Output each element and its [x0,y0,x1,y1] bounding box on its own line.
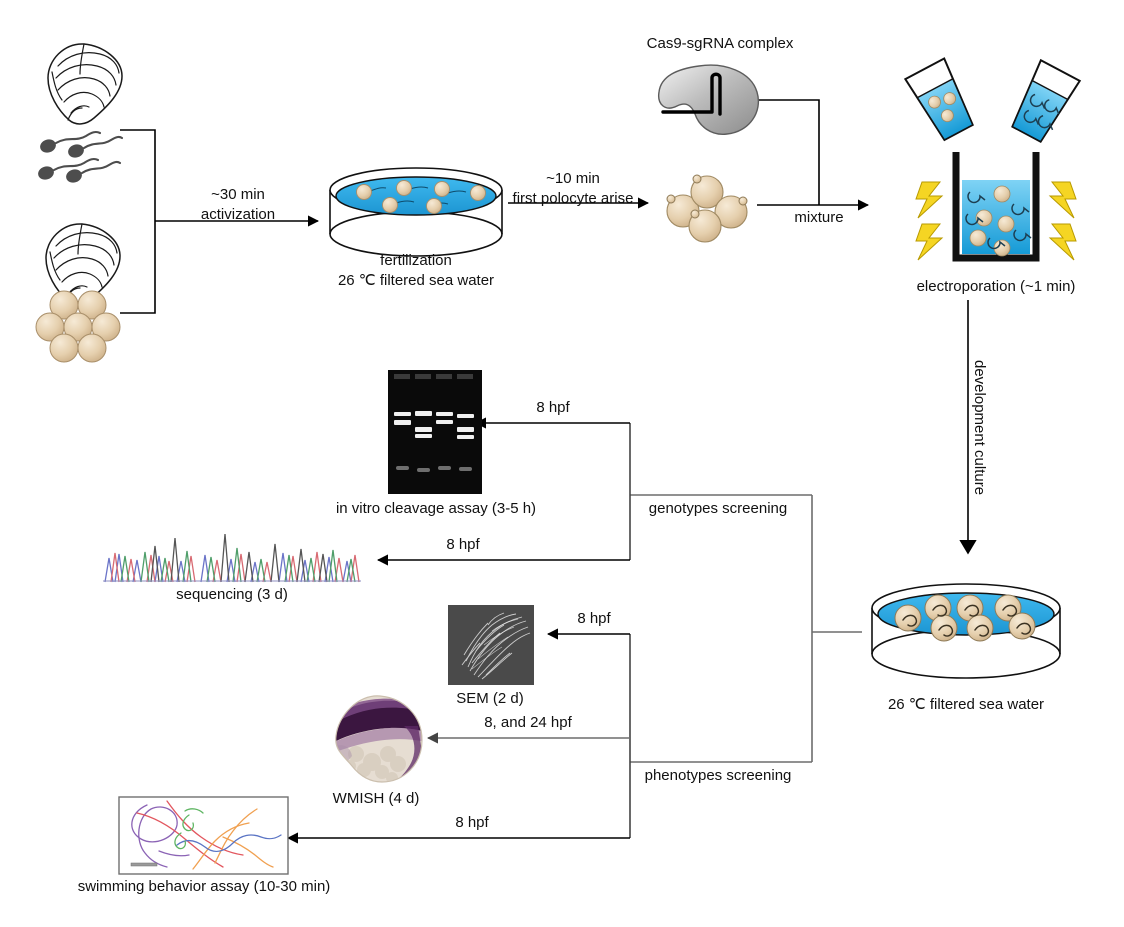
egg-cluster-icon [34,288,122,364]
fertilization-caption-line1: fertilization [380,252,452,270]
fertilization-dish [318,160,514,266]
gel-electrophoresis-image [388,370,482,494]
to-sequencing-label: 8 hpf [446,536,479,554]
wmish-image [330,692,426,788]
phenotypes-screening-label: phenotypes screening [645,767,792,785]
cas9-complex-label: Cas9-sgRNA complex [647,35,794,53]
fertilization-caption-line2: 26 ℃ filtered sea water [338,272,494,290]
activization-label-line2: activization [201,206,275,224]
cas9-protein-icon [655,62,765,138]
polocyte-label-line1: ~10 min [546,170,600,188]
zygote-cluster-icon [657,168,757,244]
to-sem-label: 8 hpf [577,610,610,628]
development-dish-caption: 26 ℃ filtered sea water [888,696,1044,714]
cleavage-assay-caption: in vitro cleavage assay (3-5 h) [336,500,536,518]
electroporation-caption: electroporation (~1 min) [917,278,1076,296]
development-dish [860,576,1072,688]
oyster-shell-icon [38,38,130,128]
mixture-label: mixture [794,209,843,227]
to-cleavage-label: 8 hpf [536,399,569,417]
polocyte-label-line2: first polocyte arise [513,190,634,208]
diagram-canvas: fertilization 26 ℃ filtered sea water Ca… [0,0,1124,927]
development-culture-label: development culture [970,360,988,495]
sequencing-caption: sequencing (3 d) [176,586,288,604]
to-wmish-label: 8, and 24 hpf [484,714,572,732]
sequencing-chromatogram-image [103,528,361,582]
to-swimming-label: 8 hpf [455,814,488,832]
genotypes-screening-label: genotypes screening [649,500,787,518]
sperm-cells-icon [32,126,124,192]
wmish-caption: WMISH (4 d) [333,790,420,808]
swimming-behavior-image [119,797,288,874]
activization-label-line1: ~30 min [211,186,265,204]
electroporation-cuvette [896,52,1096,282]
swimming-caption: swimming behavior assay (10-30 min) [78,878,331,896]
sem-image [448,605,534,685]
sem-caption: SEM (2 d) [456,690,524,708]
